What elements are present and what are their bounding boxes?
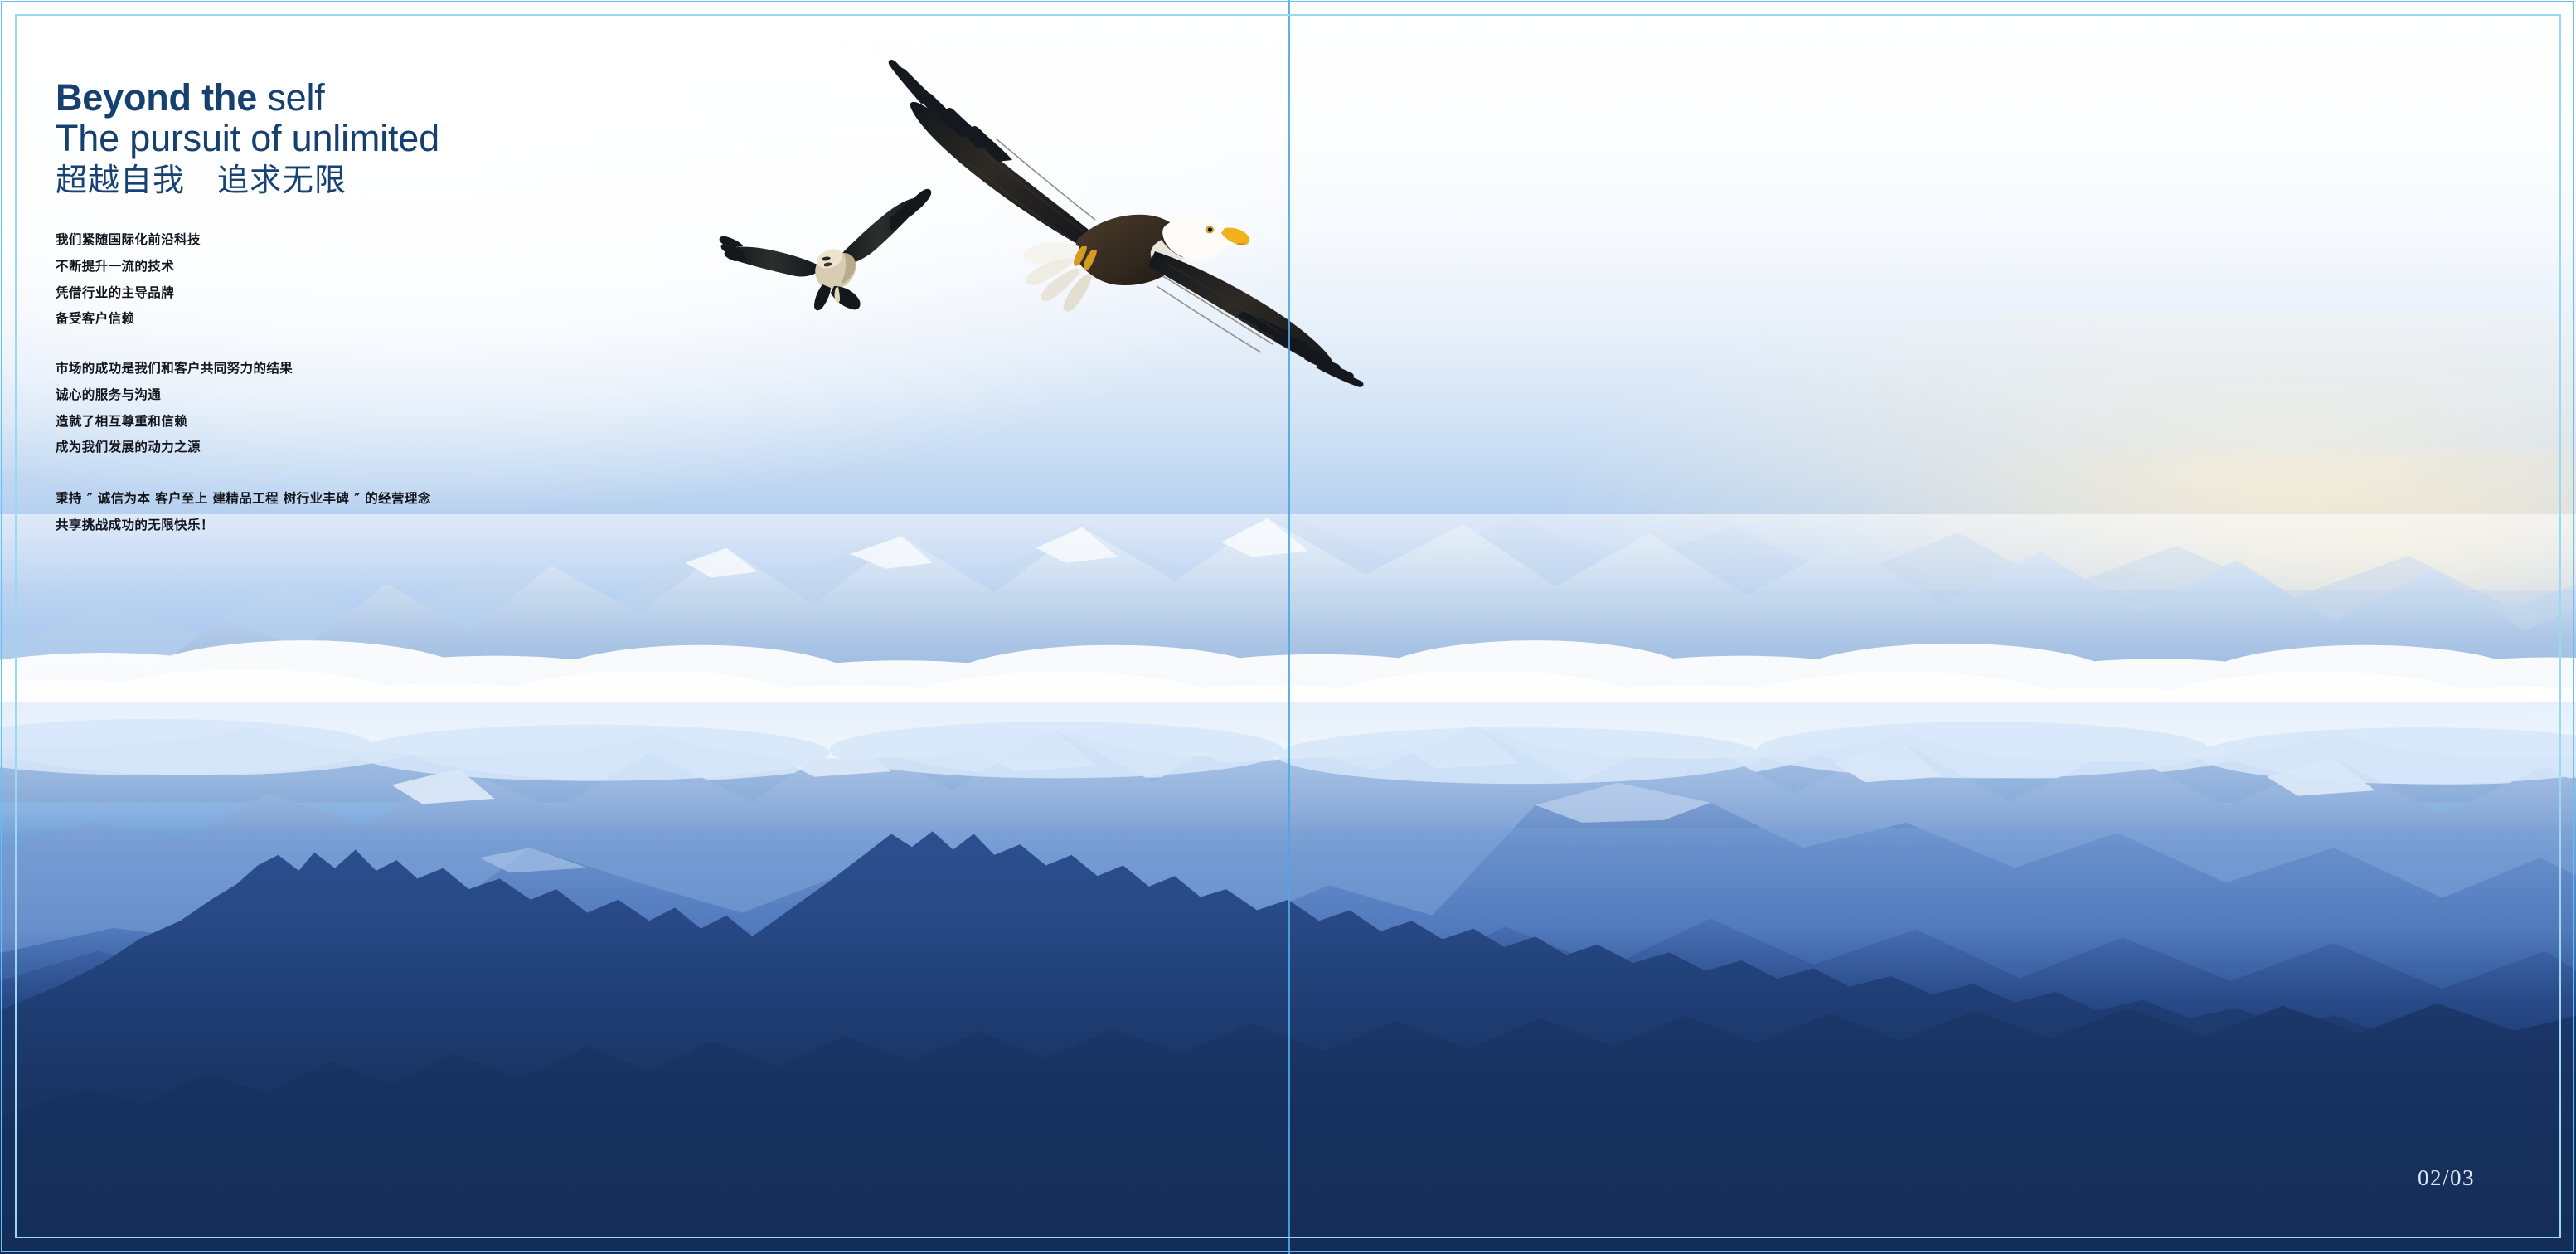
- paragraph-two-line-4: 成为我们发展的动力之源: [56, 435, 1092, 461]
- headline-english-line2: The pursuit of unlimited: [56, 119, 1092, 157]
- paragraph-two-line-1: 市场的成功是我们和客户共同努力的结果: [56, 356, 1092, 382]
- headline-group: Beyond the self The pursuit of unlimited…: [56, 79, 1092, 196]
- paragraph-two-line-2: 诚心的服务与沟通: [56, 382, 1092, 409]
- paragraph-three-line-2: 共享挑战成功的无限快乐！: [56, 513, 1092, 539]
- paragraph-three: 秉持 ″ 诚信为本 客户至上 建精品工程 树行业丰碑 ″ 的经营理念 共享挑战成…: [56, 486, 1092, 539]
- paragraph-two-line-3: 造就了相互尊重和信赖: [56, 409, 1092, 435]
- paragraph-one-line-3: 凭借行业的主导品牌: [56, 280, 1092, 307]
- brochure-spread: Beyond the self The pursuit of unlimited…: [0, 0, 2576, 1254]
- paragraph-one: 我们紧随国际化前沿科技 不断提升一流的技术 凭借行业的主导品牌 备受客户信赖: [56, 227, 1092, 333]
- paragraph-three-line-1: 秉持 ″ 诚信为本 客户至上 建精品工程 树行业丰碑 ″ 的经营理念: [56, 486, 1092, 513]
- paragraph-one-line-1: 我们紧随国际化前沿科技: [56, 227, 1092, 254]
- paragraph-two: 市场的成功是我们和客户共同努力的结果 诚心的服务与沟通 造就了相互尊重和信赖 成…: [56, 356, 1092, 461]
- paragraph-one-line-2: 不断提升一流的技术: [56, 254, 1092, 280]
- headline-chinese: 超越自我 追求无限: [56, 164, 1092, 196]
- headline-english-line1: Beyond the self: [56, 79, 1092, 116]
- paragraph-one-line-4: 备受客户信赖: [56, 306, 1092, 333]
- copy-block: Beyond the self The pursuit of unlimited…: [56, 79, 1092, 539]
- headline-bold-text: Beyond the: [56, 76, 257, 119]
- headline-light-text: self: [257, 76, 325, 119]
- page-number: 02/03: [2418, 1165, 2475, 1191]
- spine-fold-line: [1288, 0, 1290, 1254]
